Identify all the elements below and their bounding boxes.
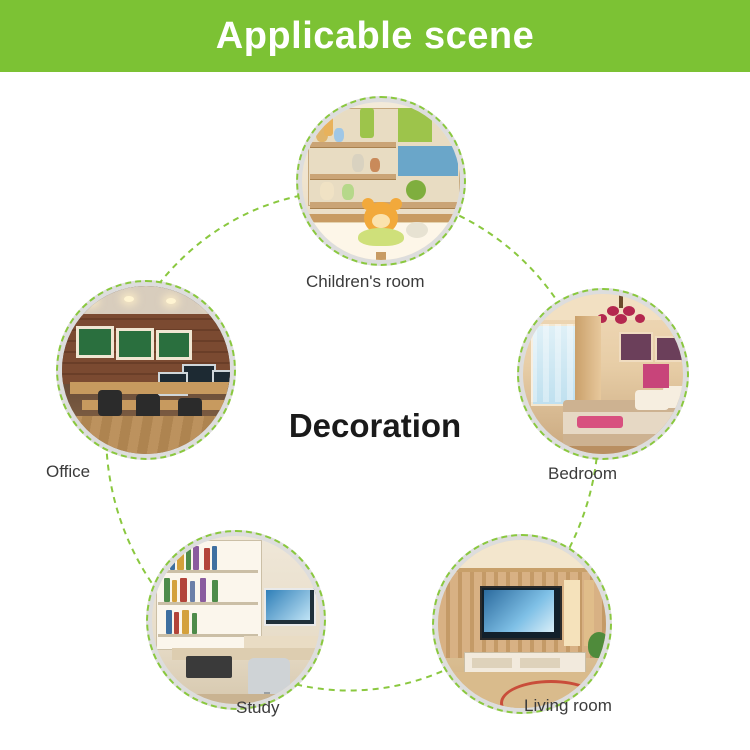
bedroom-photo[interactable]: [517, 288, 689, 460]
office-image: [62, 286, 230, 454]
bedroom-label: Bedroom: [548, 464, 617, 484]
office-photo[interactable]: [56, 280, 236, 460]
children-room-label: Children's room: [306, 272, 425, 292]
children-room-photo[interactable]: [296, 96, 466, 266]
page-title: Applicable scene: [216, 15, 534, 58]
living-room-photo[interactable]: [432, 534, 612, 714]
office-label: Office: [46, 462, 90, 482]
study-photo[interactable]: [146, 530, 326, 710]
study-label: Study: [236, 698, 279, 718]
children-room-image: [302, 102, 460, 260]
bedroom-image: [523, 294, 683, 454]
applicable-scene-page: Applicable scene Decoration: [0, 0, 750, 750]
living-room-label: Living room: [524, 696, 612, 716]
living-room-image: [438, 540, 606, 708]
study-image: [152, 536, 320, 704]
header-bar: Applicable scene: [0, 0, 750, 72]
scene-diagram: Decoration: [0, 72, 750, 750]
